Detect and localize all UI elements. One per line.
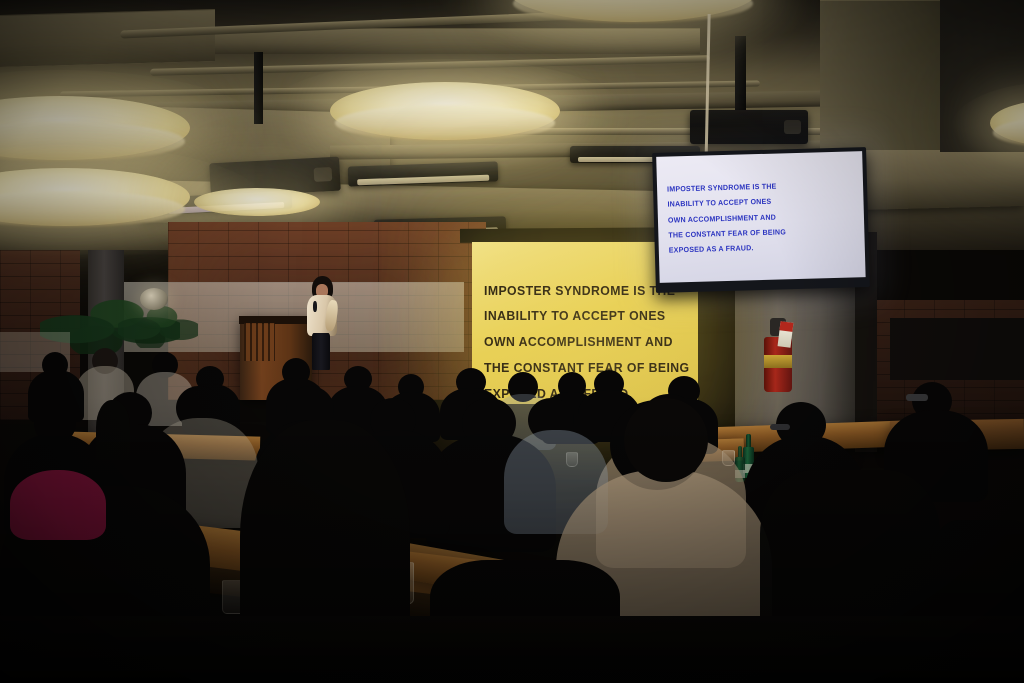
tv-text-block: IMPOSTER SYNDROME IS THE INABILITY TO AC… [667,177,847,258]
tag-red-header [779,322,793,332]
audience-member-foreground [624,398,708,482]
presenter-trousers [312,333,330,370]
wall-lamp [140,288,168,310]
projector-mount [254,52,263,124]
light-plate [194,188,320,216]
pendant-disc-light [0,168,190,226]
slide-line-1: IMPOSTER SYNDROME IS THE [484,278,673,304]
slide-line-2: INABILITY TO ACCEPT ONES [484,303,673,329]
light-rim [0,191,185,227]
pendant-disc-light [508,0,758,22]
audience-member [96,400,130,460]
projector-lens [314,167,333,183]
tv-panel: IMPOSTER SYNDROME IS THE INABILITY TO AC… [656,151,865,283]
eyeglasses-icon [770,424,790,430]
floor [0,616,1024,683]
pendant-disc-light [330,82,560,140]
light-rim [513,0,753,23]
pendant-disc-light [990,100,1024,146]
lectern-slats [244,323,274,362]
audience-member-pink-top [10,470,106,540]
pendant-disc-light [0,96,190,160]
handheld-microphone [313,301,317,312]
ceiling-duct [820,0,940,150]
pendant-disc-light [194,188,320,216]
ceiling-duct [0,9,215,67]
extinguisher-inspection-tag [777,322,793,349]
light-rim [335,105,556,141]
wall-shadow [890,318,1024,380]
photo-scene: IMPOSTER SYNDROME IS THE INABILITY TO AC… [0,0,1024,683]
wall-mounted-tv: IMPOSTER SYNDROME IS THE INABILITY TO AC… [652,147,870,293]
slide-line-3: OWN ACCOMPLISHMENT AND [484,329,673,355]
projector-lens [784,120,801,135]
fire-extinguisher [764,318,792,392]
extinguisher-label-band [764,355,792,368]
eyeglasses-icon [906,394,928,401]
projector-mount [735,36,746,116]
presenter [300,276,344,368]
